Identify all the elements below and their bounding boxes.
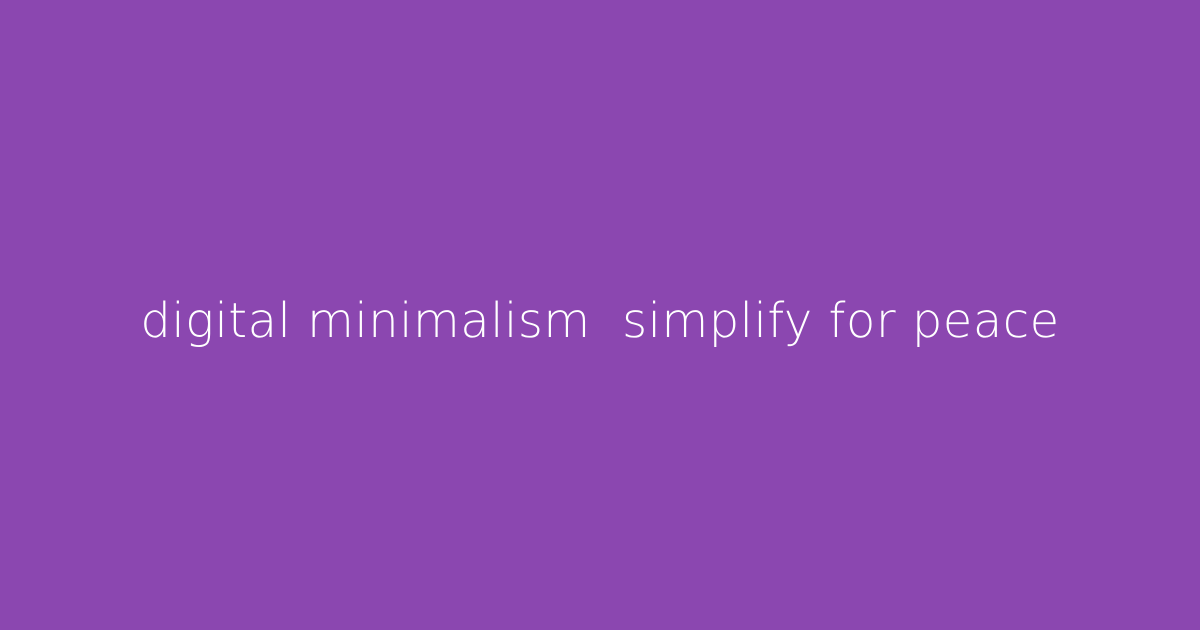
banner-canvas: digital minimalism simplify for peace — [0, 0, 1200, 630]
banner-headline: digital minimalism simplify for peace — [140, 295, 1059, 348]
